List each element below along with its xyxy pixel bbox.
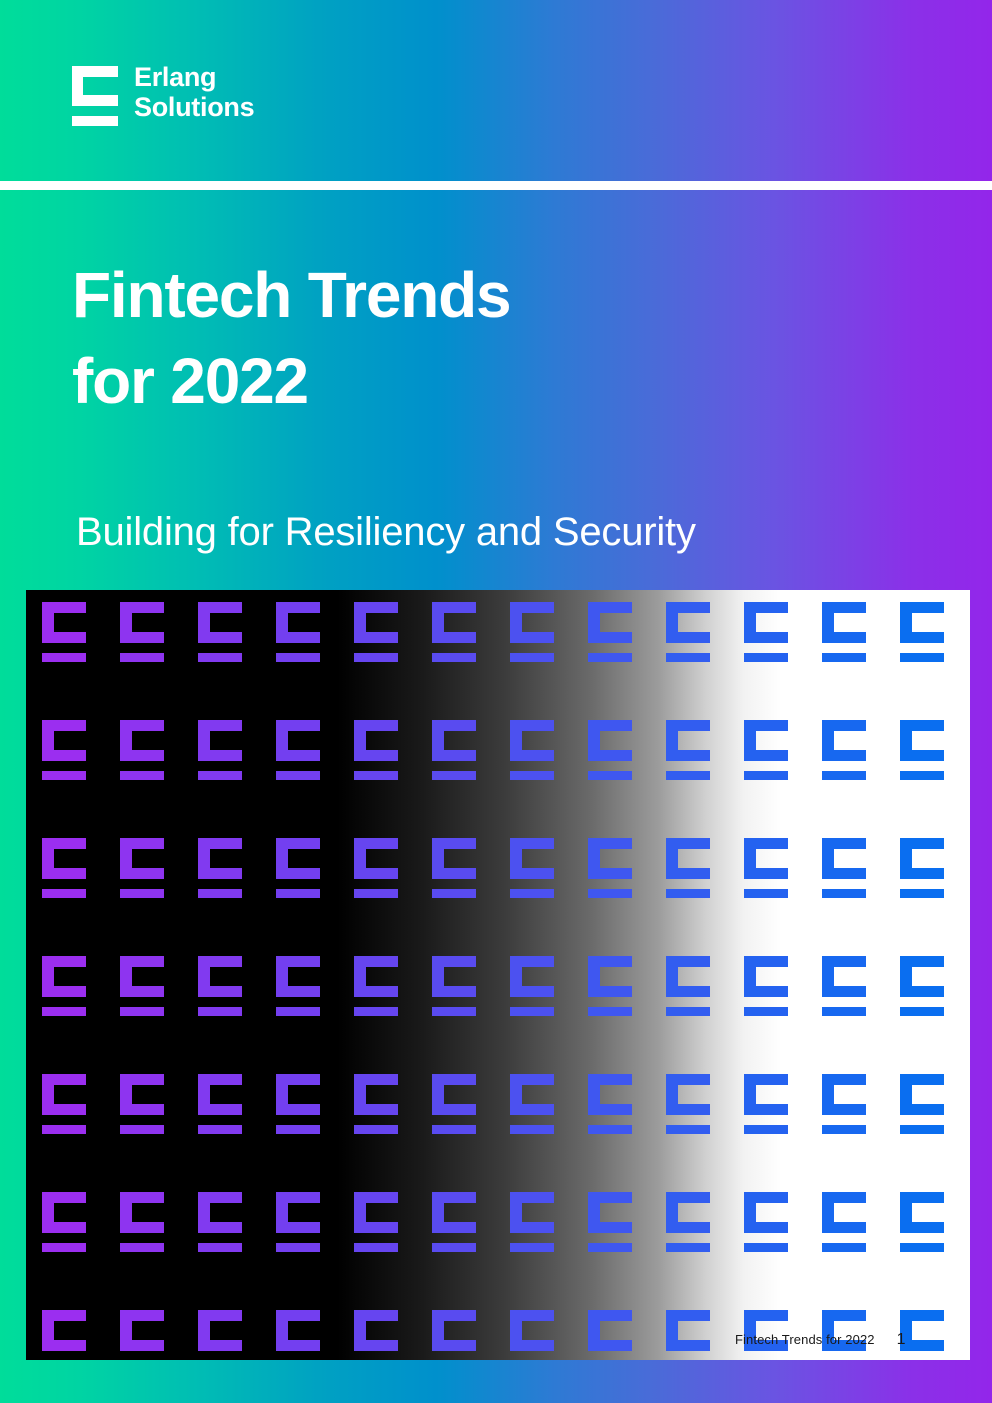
erlang-solutions-mark-icon [120, 1310, 164, 1360]
erlang-solutions-mark-icon [900, 602, 944, 662]
erlang-solutions-mark-icon [198, 1074, 242, 1134]
erlang-solutions-mark-icon [666, 956, 710, 1016]
erlang-solutions-mark-icon [432, 1074, 476, 1134]
erlang-solutions-mark-icon [120, 1074, 164, 1134]
page-header: Erlang Solutions [0, 0, 992, 181]
erlang-solutions-mark-icon [744, 956, 788, 1016]
erlang-solutions-mark-icon [510, 1074, 554, 1134]
erlang-solutions-mark-icon [42, 1310, 86, 1360]
erlang-solutions-mark-icon [42, 956, 86, 1016]
erlang-solutions-mark-icon [588, 1310, 632, 1360]
erlang-solutions-mark-icon [744, 720, 788, 780]
erlang-solutions-mark-icon [666, 1074, 710, 1134]
erlang-solutions-mark-icon [354, 602, 398, 662]
erlang-solutions-mark-icon [432, 1192, 476, 1252]
footer-page-number: 1 [897, 1331, 906, 1349]
erlang-solutions-mark-icon [198, 602, 242, 662]
erlang-solutions-mark-icon [588, 1192, 632, 1252]
brand-name-line-2: Solutions [134, 92, 254, 122]
page-title-line-1: Fintech Trends [72, 252, 892, 338]
erlang-solutions-mark-icon [42, 838, 86, 898]
erlang-solutions-mark-icon [120, 602, 164, 662]
erlang-solutions-mark-icon [432, 1310, 476, 1360]
erlang-solutions-mark-icon [744, 602, 788, 662]
erlang-solutions-mark-icon [822, 1074, 866, 1134]
erlang-solutions-mark-icon [510, 1192, 554, 1252]
erlang-solutions-mark-icon [666, 838, 710, 898]
erlang-solutions-mark-icon [822, 720, 866, 780]
erlang-solutions-mark-icon [432, 602, 476, 662]
erlang-solutions-mark-icon [900, 956, 944, 1016]
erlang-solutions-mark-icon [276, 1192, 320, 1252]
erlang-solutions-mark-icon [432, 956, 476, 1016]
erlang-solutions-mark-icon [42, 1074, 86, 1134]
erlang-solutions-mark-icon [42, 720, 86, 780]
header-divider [0, 181, 992, 190]
erlang-solutions-mark-icon [42, 1192, 86, 1252]
brand-wordmark: Erlang Solutions [134, 62, 254, 122]
erlang-solutions-mark-icon [276, 1310, 320, 1360]
erlang-solutions-mark-icon [120, 720, 164, 780]
erlang-solutions-mark-icon [198, 720, 242, 780]
erlang-solutions-mark-icon [354, 1310, 398, 1360]
erlang-solutions-mark-icon [432, 720, 476, 780]
erlang-solutions-mark-icon [354, 838, 398, 898]
erlang-solutions-mark-icon [432, 838, 476, 898]
erlang-solutions-mark-icon [120, 838, 164, 898]
erlang-solutions-mark-icon [900, 1192, 944, 1252]
erlang-solutions-mark-icon [900, 1310, 944, 1360]
page-subtitle: Building for Resiliency and Security [76, 508, 696, 556]
hero-logo-grid [26, 590, 970, 1360]
brand-name-line-1: Erlang [134, 62, 254, 92]
erlang-solutions-mark-icon [276, 956, 320, 1016]
erlang-solutions-mark-icon [510, 1310, 554, 1360]
erlang-solutions-mark-icon [510, 602, 554, 662]
erlang-solutions-mark-icon [900, 838, 944, 898]
erlang-solutions-mark-icon [354, 1074, 398, 1134]
erlang-solutions-mark-icon [744, 838, 788, 898]
erlang-solutions-mark-icon [198, 1192, 242, 1252]
brand-logo[interactable]: Erlang Solutions [72, 62, 254, 126]
footer-document-label: Fintech Trends for 2022 [735, 1332, 875, 1347]
erlang-solutions-mark-icon [900, 1074, 944, 1134]
erlang-solutions-mark-icon [510, 838, 554, 898]
hero-pattern-panel [26, 590, 970, 1360]
erlang-solutions-mark-icon [510, 956, 554, 1016]
page-footer: Fintech Trends for 2022 1 [735, 1331, 906, 1349]
erlang-solutions-mark-icon [120, 956, 164, 1016]
erlang-solutions-mark-icon [666, 1192, 710, 1252]
erlang-solutions-mark-icon [588, 838, 632, 898]
erlang-solutions-mark-icon [744, 1074, 788, 1134]
page-title: Fintech Trends for 2022 [72, 252, 892, 424]
erlang-solutions-mark-icon [354, 720, 398, 780]
erlang-solutions-mark-icon [666, 720, 710, 780]
page-title-line-2: for 2022 [72, 338, 892, 424]
erlang-solutions-mark-icon [900, 720, 944, 780]
erlang-solutions-mark-icon [276, 1074, 320, 1134]
erlang-solutions-mark-icon [822, 602, 866, 662]
erlang-solutions-mark-icon [120, 1192, 164, 1252]
erlang-solutions-mark-icon [666, 602, 710, 662]
erlang-solutions-mark-icon [744, 1192, 788, 1252]
erlang-solutions-mark-icon [822, 1192, 866, 1252]
erlang-solutions-mark-icon [276, 720, 320, 780]
erlang-solutions-mark-icon [588, 602, 632, 662]
erlang-solutions-mark-icon [666, 1310, 710, 1360]
erlang-solutions-mark-icon [588, 720, 632, 780]
erlang-solutions-mark-icon [198, 956, 242, 1016]
erlang-solutions-mark-icon [510, 720, 554, 780]
erlang-solutions-mark-icon [42, 602, 86, 662]
erlang-solutions-mark-icon [198, 1310, 242, 1360]
title-block: Fintech Trends for 2022 [72, 252, 892, 424]
erlang-solutions-mark-icon [354, 1192, 398, 1252]
erlang-solutions-mark-icon [198, 838, 242, 898]
erlang-solutions-mark-icon [822, 838, 866, 898]
erlang-solutions-mark-icon [72, 66, 118, 126]
erlang-solutions-mark-icon [276, 602, 320, 662]
erlang-solutions-mark-icon [276, 838, 320, 898]
document-page: Erlang Solutions Fintech Trends for 2022… [0, 0, 992, 1403]
erlang-solutions-mark-icon [822, 956, 866, 1016]
erlang-solutions-mark-icon [354, 956, 398, 1016]
erlang-solutions-mark-icon [588, 1074, 632, 1134]
erlang-solutions-mark-icon [588, 956, 632, 1016]
